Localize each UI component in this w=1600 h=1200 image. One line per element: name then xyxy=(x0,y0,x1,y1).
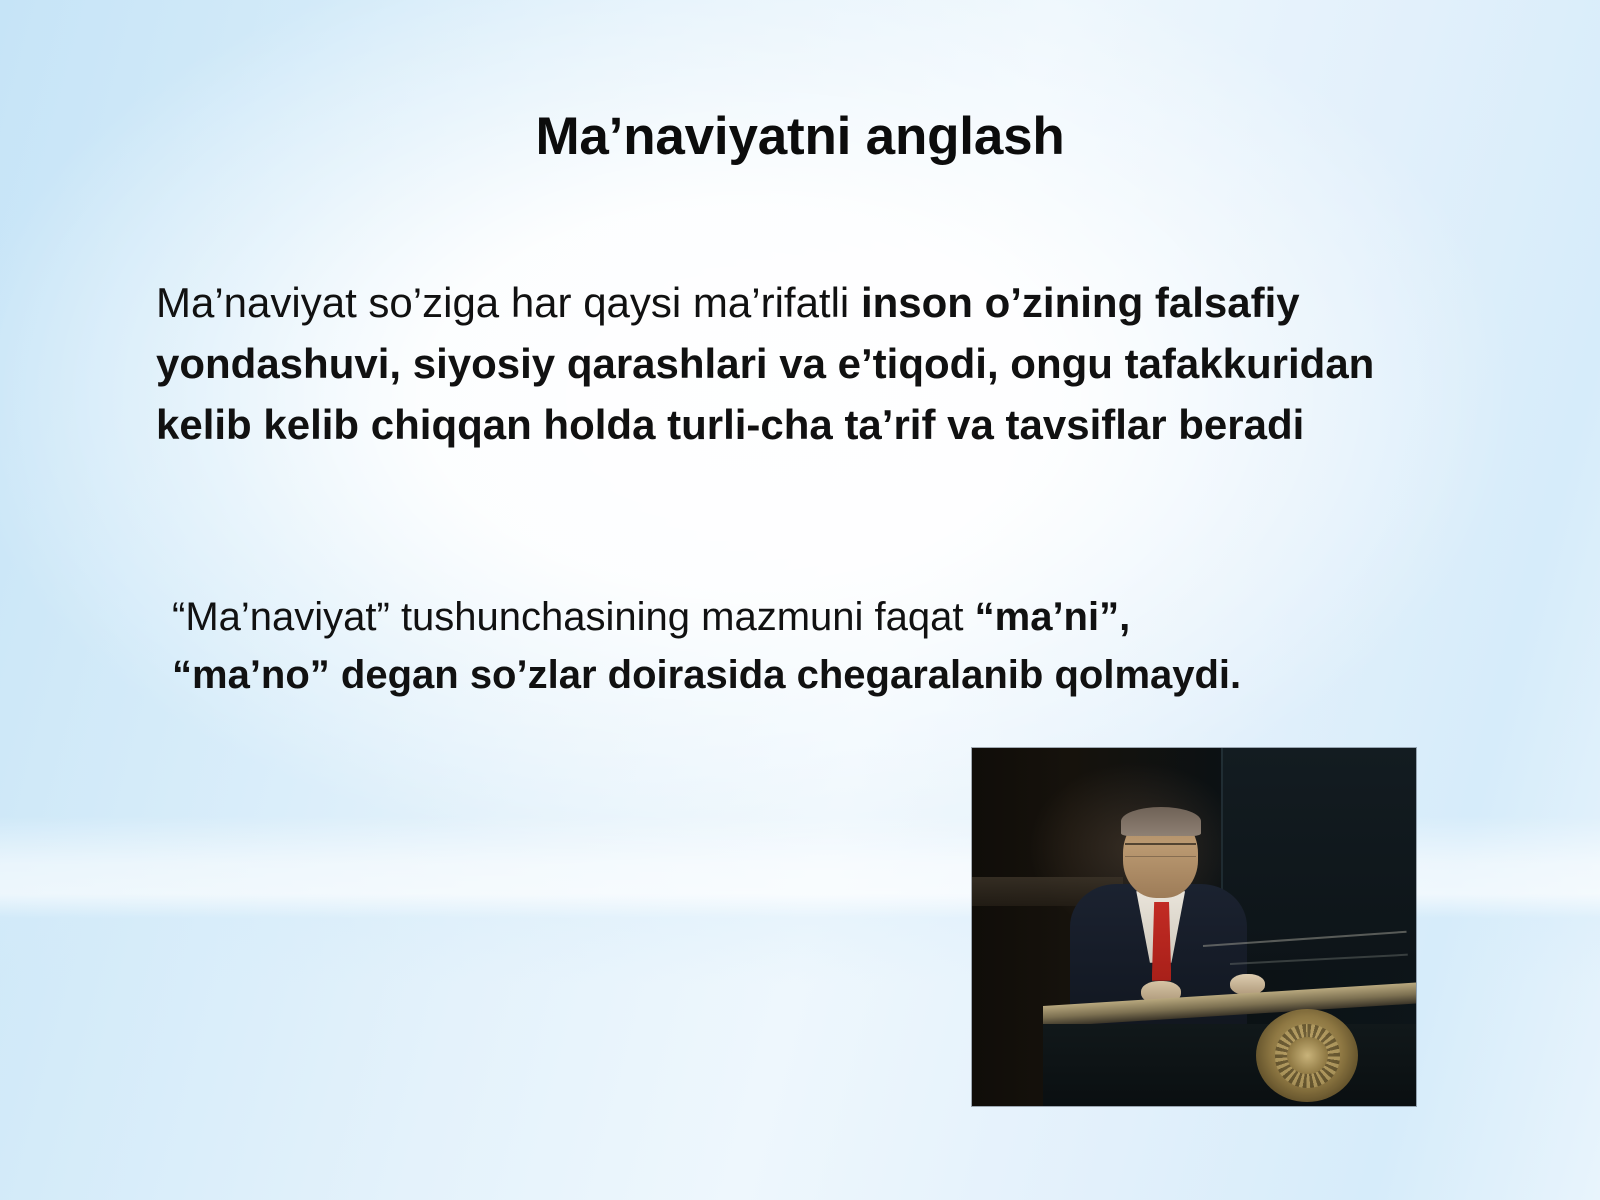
photo-speaker-hair xyxy=(1121,807,1201,836)
slide-canvas: Ma’naviyatni anglash Ma’naviyat so’ziga … xyxy=(0,0,1600,1200)
paragraph-two: “Ma’naviyat” tushunchasining mazmuni faq… xyxy=(172,588,1272,704)
photo-speaker-red-tie xyxy=(1152,902,1172,981)
speaker-at-un-podium-photo xyxy=(972,748,1416,1106)
page-title: Ma’naviyatni anglash xyxy=(0,106,1600,167)
photo-speaker-glasses xyxy=(1125,843,1196,857)
un-emblem-icon xyxy=(1256,1009,1358,1102)
photo-podium-body xyxy=(1043,1024,1416,1106)
paragraph-one-lead-text: Ma’naviyat so’ziga har qaysi ma’rifatli xyxy=(156,279,861,326)
paragraph-two-lead-text: “Ma’naviyat” tushunchasining mazmuni faq… xyxy=(172,595,975,639)
paragraph-one: Ma’naviyat so’ziga har qaysi ma’rifatli … xyxy=(156,272,1412,455)
